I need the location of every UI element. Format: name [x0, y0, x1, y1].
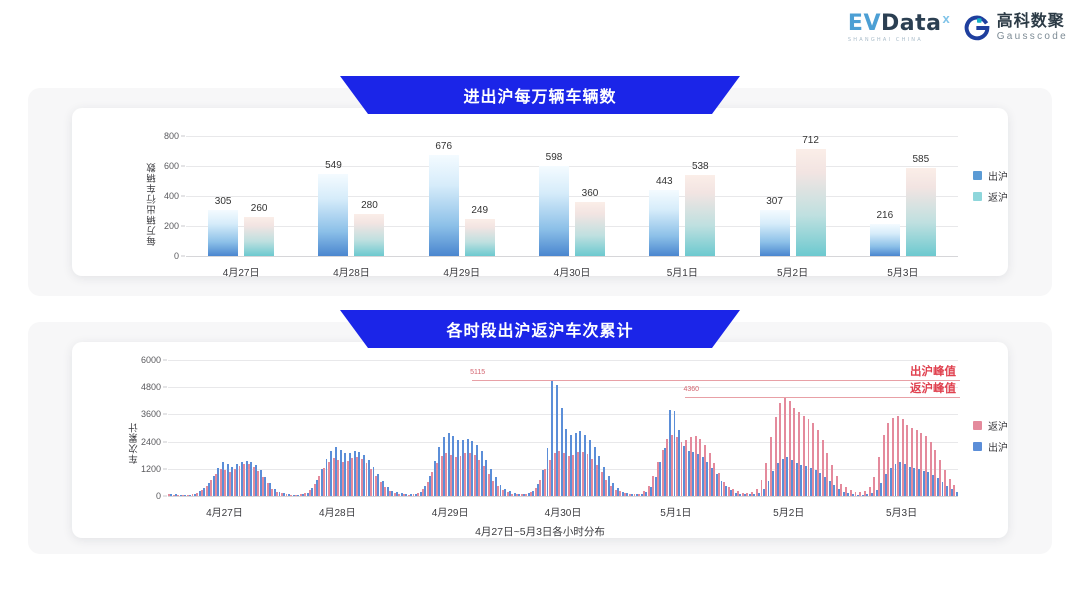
bar-value-label: 305 — [215, 196, 232, 207]
bar[interactable]: 249 — [465, 219, 495, 256]
bar[interactable]: 260 — [244, 217, 274, 256]
x-axis-tick-label: 5月1日 — [667, 264, 698, 279]
y-axis-tick-mark — [181, 256, 185, 257]
y-axis-tick-mark — [163, 468, 167, 469]
hourly-bar[interactable] — [956, 492, 958, 496]
legend-item[interactable]: 返沪 — [973, 189, 1008, 204]
x-axis-tick-label: 4月30日 — [545, 504, 582, 519]
gridline — [186, 256, 958, 257]
banner-title-1: 进出沪每万辆车辆数 — [340, 76, 740, 114]
x-axis-tick-label: 5月3日 — [886, 504, 917, 519]
bar[interactable]: 360 — [575, 202, 605, 256]
evdata-wordmark: EV Data x — [848, 13, 950, 35]
bar-value-label: 549 — [325, 160, 342, 171]
y-axis-tick-mark — [163, 360, 167, 361]
y-axis-tick-label: 0 — [156, 491, 161, 501]
gridline — [186, 226, 958, 227]
y-axis-tick-label: 2400 — [141, 437, 161, 447]
y-axis-tick-mark — [181, 226, 185, 227]
peak-value-label: 4360 — [683, 386, 699, 393]
y-axis-tick-label: 4800 — [141, 382, 161, 392]
evdata-logo: EV Data x SHANGHAI CHINA — [848, 13, 950, 43]
peak-annotation-label: 返沪峰值 — [910, 380, 956, 396]
x-axis-tick-label: 5月3日 — [887, 264, 918, 279]
chart-1-legend[interactable]: 出沪返沪 — [973, 168, 1008, 204]
bar-value-label: 676 — [435, 141, 452, 152]
chart-1-plot: 02004006008004月27日4月28日4月29日4月30日5月1日5月2… — [186, 136, 958, 256]
bar[interactable]: 443 — [649, 190, 679, 256]
legend-swatch — [973, 421, 982, 430]
bar[interactable]: 307 — [760, 210, 790, 256]
bar-value-label: 598 — [546, 152, 563, 163]
gausscode-mark-icon — [964, 15, 990, 41]
peak-value-label: 5115 — [470, 369, 485, 376]
y-axis-tick-mark — [163, 414, 167, 415]
chart-2-plot: 0120024003600480060004月27日4月28日4月29日4月30… — [168, 360, 958, 496]
evdata-word-data: Data — [881, 13, 941, 35]
x-axis-tick-label: 4月29日 — [443, 264, 480, 279]
y-axis-tick-label: 400 — [164, 191, 179, 201]
peak-annotation-label: 出沪峰值 — [910, 363, 956, 379]
evdata-tagline: SHANGHAI CHINA — [848, 37, 923, 43]
y-axis-tick-label: 6000 — [141, 355, 161, 365]
y-axis-tick-mark — [163, 441, 167, 442]
chart-2-legend[interactable]: 返沪出沪 — [973, 418, 1008, 454]
bar-value-label: 260 — [251, 203, 268, 214]
bar[interactable]: 280 — [354, 214, 384, 256]
gridline — [168, 442, 958, 443]
x-axis-tick-label: 4月28日 — [333, 264, 370, 279]
bar[interactable]: 216 — [870, 224, 900, 256]
slide-root: EV Data x SHANGHAI CHINA 高科数聚 Gausscode … — [0, 0, 1080, 608]
x-axis-tick-label: 4月29日 — [432, 504, 469, 519]
x-axis-tick-label: 5月2日 — [777, 264, 808, 279]
legend-label: 返沪 — [988, 189, 1008, 204]
legend-label: 返沪 — [988, 418, 1008, 433]
legend-item[interactable]: 返沪 — [973, 418, 1008, 433]
gridline — [168, 360, 958, 361]
bar[interactable]: 585 — [906, 168, 936, 256]
gausscode-logo: 高科数聚 Gausscode — [964, 14, 1068, 42]
logo-bar: EV Data x SHANGHAI CHINA 高科数聚 Gausscode — [848, 13, 1068, 43]
banner-title-2: 各时段出沪返沪车次累计 — [340, 310, 740, 348]
peak-annotation-line — [685, 397, 960, 398]
gridline — [168, 496, 958, 497]
bar[interactable]: 549 — [318, 174, 348, 256]
bar[interactable]: 538 — [685, 175, 715, 256]
bar-value-label: 538 — [692, 161, 709, 172]
y-axis-tick-label: 600 — [164, 161, 179, 171]
gridline — [186, 166, 958, 167]
x-axis-tick-label: 4月27日 — [206, 504, 243, 519]
x-axis-tick-label: 5月1日 — [660, 504, 691, 519]
peak-annotation-line — [472, 380, 960, 381]
gridline — [168, 414, 958, 415]
bar-value-label: 585 — [913, 154, 930, 165]
bar-value-label: 360 — [582, 188, 599, 199]
gridline — [186, 136, 958, 137]
gridline — [168, 387, 958, 388]
x-axis-tick-label: 4月30日 — [554, 264, 591, 279]
bar[interactable]: 676 — [429, 155, 459, 256]
gausscode-cn: 高科数聚 — [997, 14, 1068, 30]
y-axis-tick-label: 1200 — [141, 464, 161, 474]
bar-value-label: 443 — [656, 176, 673, 187]
panel-vehicles-per-10k: 进出沪每万辆车辆数 02004006008004月27日4月28日4月29日4月… — [28, 88, 1052, 296]
bar-value-label: 249 — [471, 205, 488, 216]
gridline — [186, 196, 958, 197]
panel-hourly-cumulative: 各时段出沪返沪车次累计 0120024003600480060004月27日4月… — [28, 322, 1052, 554]
legend-swatch — [973, 192, 982, 201]
chart-2-subtitle: 4月27日~5月3日各小时分布 — [475, 524, 605, 539]
chart-2-y-axis-label: 车次累计 — [128, 394, 142, 464]
bar-value-label: 712 — [802, 135, 819, 146]
y-axis-tick-mark — [163, 387, 167, 388]
y-axis-tick-label: 0 — [174, 251, 179, 261]
x-axis-tick-label: 4月28日 — [319, 504, 356, 519]
legend-item[interactable]: 出沪 — [973, 439, 1008, 454]
legend-label: 出沪 — [988, 439, 1008, 454]
x-axis-tick-label: 5月2日 — [773, 504, 804, 519]
y-axis-tick-label: 800 — [164, 131, 179, 141]
x-axis-tick-label: 4月27日 — [223, 264, 260, 279]
gausscode-en: Gausscode — [997, 32, 1068, 42]
y-axis-tick-label: 3600 — [141, 409, 161, 419]
evdata-word-ev: EV — [848, 13, 881, 35]
bar[interactable]: 712 — [796, 149, 826, 256]
y-axis-tick-mark — [181, 196, 185, 197]
gausscode-text: 高科数聚 Gausscode — [997, 14, 1068, 42]
y-axis-tick-mark — [181, 136, 185, 137]
bar-value-label: 216 — [877, 210, 894, 221]
y-axis-tick-label: 200 — [164, 221, 179, 231]
bar[interactable]: 305 — [208, 210, 238, 256]
bar[interactable]: 598 — [539, 166, 569, 256]
bar-value-label: 307 — [766, 196, 783, 207]
evdata-superscript-icon: x — [942, 11, 949, 26]
legend-label: 出沪 — [988, 168, 1008, 183]
legend-swatch — [973, 442, 982, 451]
legend-swatch — [973, 171, 982, 180]
y-axis-tick-mark — [181, 166, 185, 167]
chart-1-y-axis-label: 每万辆出行车辆数 — [146, 150, 160, 246]
legend-item[interactable]: 出沪 — [973, 168, 1008, 183]
y-axis-tick-mark — [163, 496, 167, 497]
bar-value-label: 280 — [361, 200, 378, 211]
